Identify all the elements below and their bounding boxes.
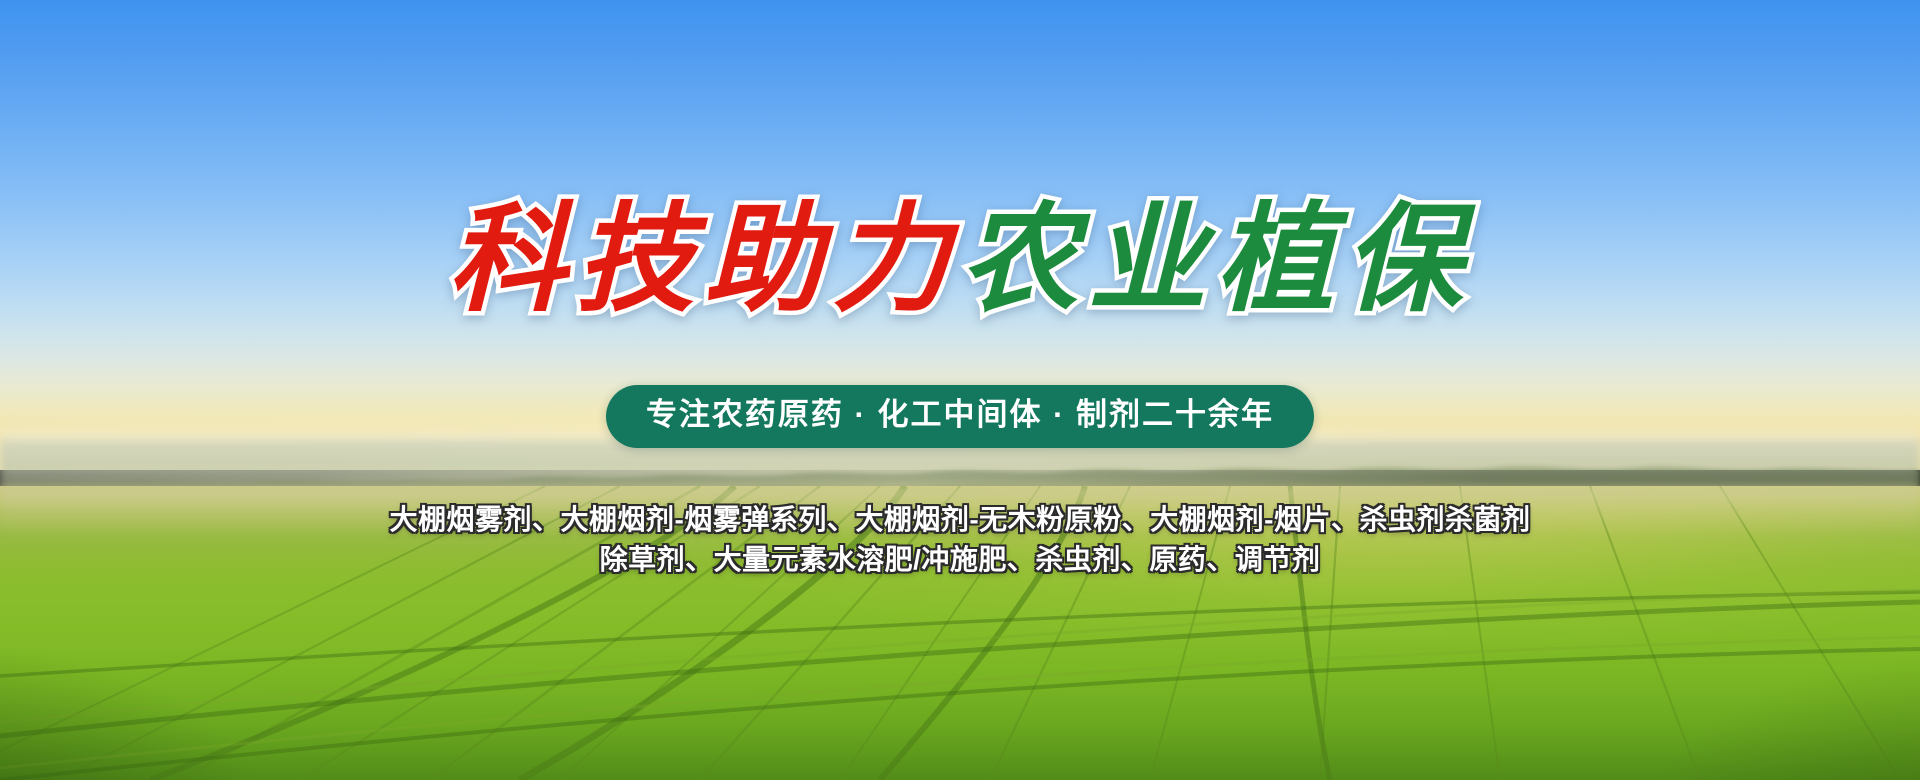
tagline-badge: 专注农药原药 · 化工中间体 · 制剂二十余年 [606, 385, 1314, 448]
product-line-1: 大棚烟雾剂、大棚烟剂-烟雾弹系列、大棚烟剂-无木粉原粉、大棚烟剂-烟片、杀虫剂杀… [0, 500, 1920, 540]
hero-headline: 科技助力农业植保 [0, 196, 1920, 321]
hero-banner: 科技助力农业植保 专注农药原药 · 化工中间体 · 制剂二十余年 大棚烟雾剂、大… [0, 0, 1920, 780]
product-line-2: 除草剂、大量元素水溶肥/冲施肥、杀虫剂、原药、调节剂 [0, 540, 1920, 580]
tagline-container: 专注农药原药 · 化工中间体 · 制剂二十余年 [0, 385, 1920, 448]
headline-segment-green: 农业植保 [960, 196, 1472, 321]
headline-segment-red: 科技助力 [448, 196, 960, 321]
product-list: 大棚烟雾剂、大棚烟剂-烟雾弹系列、大棚烟剂-无木粉原粉、大棚烟剂-烟片、杀虫剂杀… [0, 500, 1920, 580]
